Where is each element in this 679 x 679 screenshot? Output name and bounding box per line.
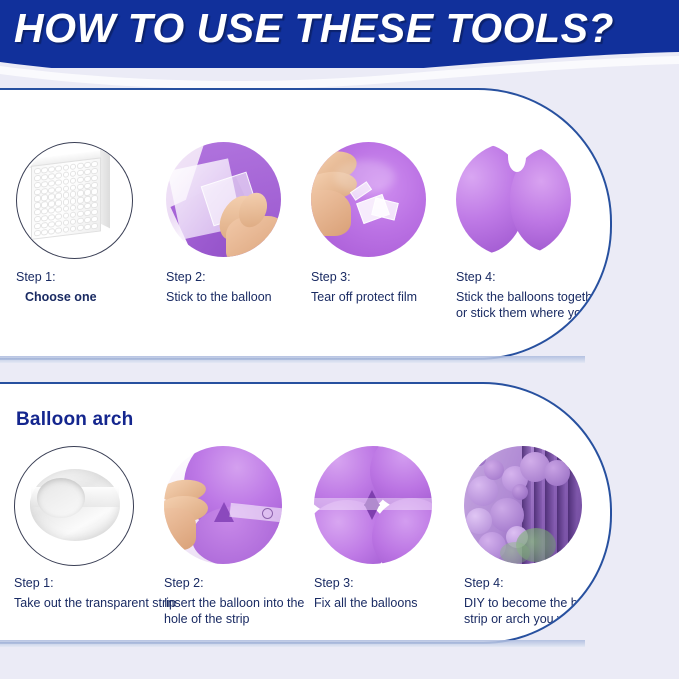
panel-1-shadow [0,356,585,363]
instruction-panel-glue-dots: Step 1: Choose one Step 2: Stick to the … [0,88,612,360]
step-image-insert-balloon [164,446,282,564]
page-header: HOW TO USE THESE TOOLS? [0,0,679,88]
step-image-transparent-strip [14,446,134,566]
panel-2-content: Balloon arch Step 1: Take out the transp… [0,384,610,642]
instruction-panel-balloon-arch: Balloon arch Step 1: Take out the transp… [0,382,612,644]
step-label-head: Step 3: [311,270,351,284]
step-item-1-2: Step 2: Stick to the balloon [166,142,306,342]
step-label-head: Step 4: [464,576,504,590]
step-item-2-2: Step 2: Insert the balloon into the hole… [164,446,314,636]
step-item-1-3: Step 3: Tear off protect film [311,142,451,342]
panel-1-content: Step 1: Choose one Step 2: Stick to the … [0,90,610,358]
step-image-stick-to-balloon [166,142,281,257]
step-item-2-4: Step 4: DIY to become the balloon strip … [464,446,612,636]
step-image-balloons-together [456,142,571,257]
step-item-2-3: Step 3: Fix all the balloons [314,446,464,636]
panel-title-balloon-arch: Balloon arch [16,409,133,431]
step-item-1-1: Step 1: Choose one [16,142,136,342]
step-label-body: Fix all the balloons [314,596,474,612]
step-image-finished-arch [464,446,582,564]
step-image-glue-dot-sheet [16,142,133,259]
step-label-head: Step 4: [456,270,496,284]
step-image-tear-off-film [311,142,426,257]
header-wave-decoration [0,52,679,88]
step-label-head: Step 3: [314,576,354,590]
step-label-head: Step 2: [164,576,204,590]
step-label-body: Stick the balloons together or stick the… [456,290,612,321]
page-title: HOW TO USE THESE TOOLS? [14,5,614,52]
step-item-1-4: Step 4: Stick the balloons together or s… [456,142,612,342]
step-label-head: Step 1: [16,270,56,284]
step-label-body: Choose one [16,290,185,306]
panel-2-shadow [0,640,585,647]
step-label-body: DIY to become the balloon strip or arch … [464,596,612,627]
step-label-head: Step 2: [166,270,206,284]
step-label-body: Insert the balloon into the hole of the … [164,596,324,627]
step-label-body: Stick to the balloon [166,290,326,306]
step-label-head: Step 1: [14,576,54,590]
step-item-2-1: Step 1: Take out the transparent strip [14,446,154,636]
step-image-fix-balloons [314,446,432,564]
